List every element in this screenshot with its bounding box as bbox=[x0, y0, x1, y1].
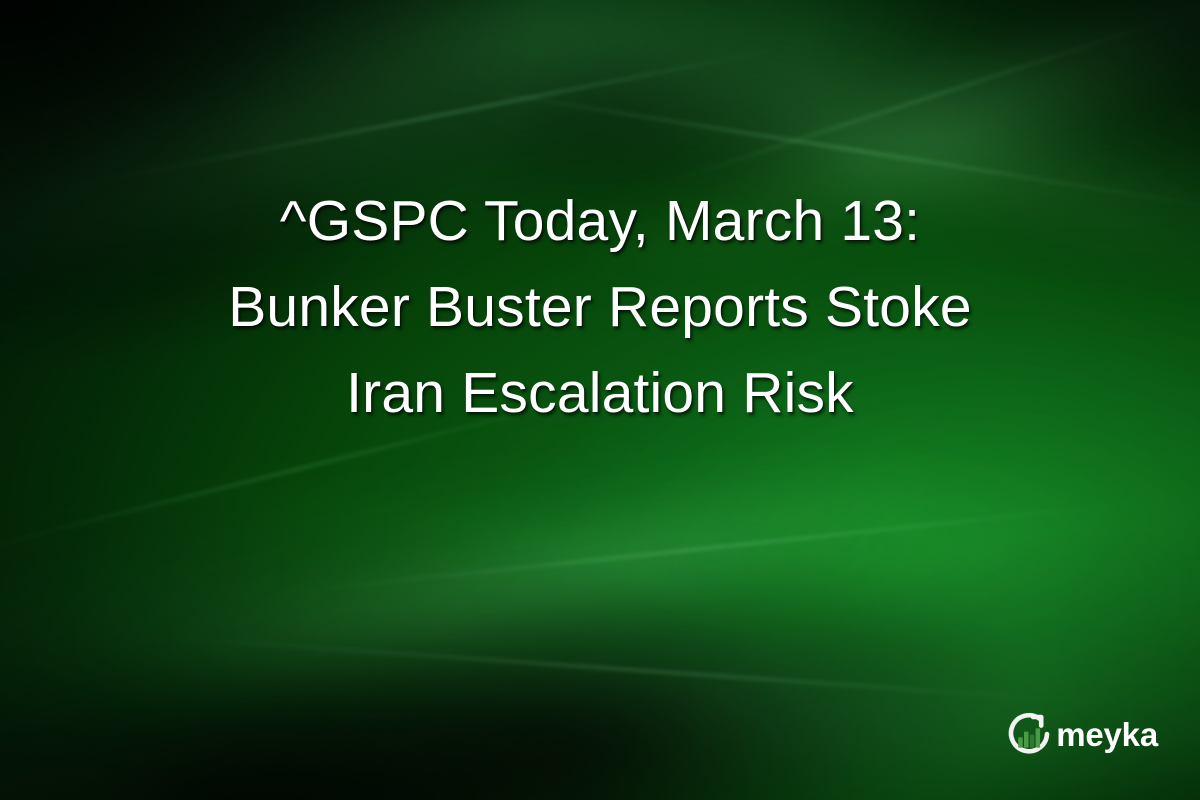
headline-line-2: Bunker Buster Reports Stoke bbox=[60, 264, 1140, 350]
wave-ribbon-10 bbox=[147, 429, 973, 730]
bar-chart-in-circle-icon bbox=[1005, 710, 1053, 758]
wave-trough-1 bbox=[104, 529, 1037, 800]
wave-ribbon-9 bbox=[0, 640, 915, 800]
article-hero-card: ^GSPC Today, March 13: Bunker Buster Rep… bbox=[0, 0, 1200, 800]
meyka-logo[interactable]: meyka bbox=[1005, 710, 1158, 758]
headline-line-1: ^GSPC Today, March 13: bbox=[60, 178, 1140, 264]
wave-trough-2 bbox=[0, 667, 745, 800]
headline-line-3: Iran Escalation Risk bbox=[60, 350, 1140, 436]
light-filament-1 bbox=[47, 46, 793, 193]
page-title: ^GSPC Today, March 13: Bunker Buster Rep… bbox=[0, 178, 1200, 436]
light-filament-6 bbox=[635, 0, 1200, 193]
logo-wordmark: meyka bbox=[1056, 718, 1158, 751]
wave-ribbon-8 bbox=[54, 544, 1200, 800]
wave-ribbon-7 bbox=[0, 392, 1111, 800]
light-filament-3 bbox=[252, 501, 1147, 597]
light-filament-4 bbox=[121, 633, 1119, 705]
